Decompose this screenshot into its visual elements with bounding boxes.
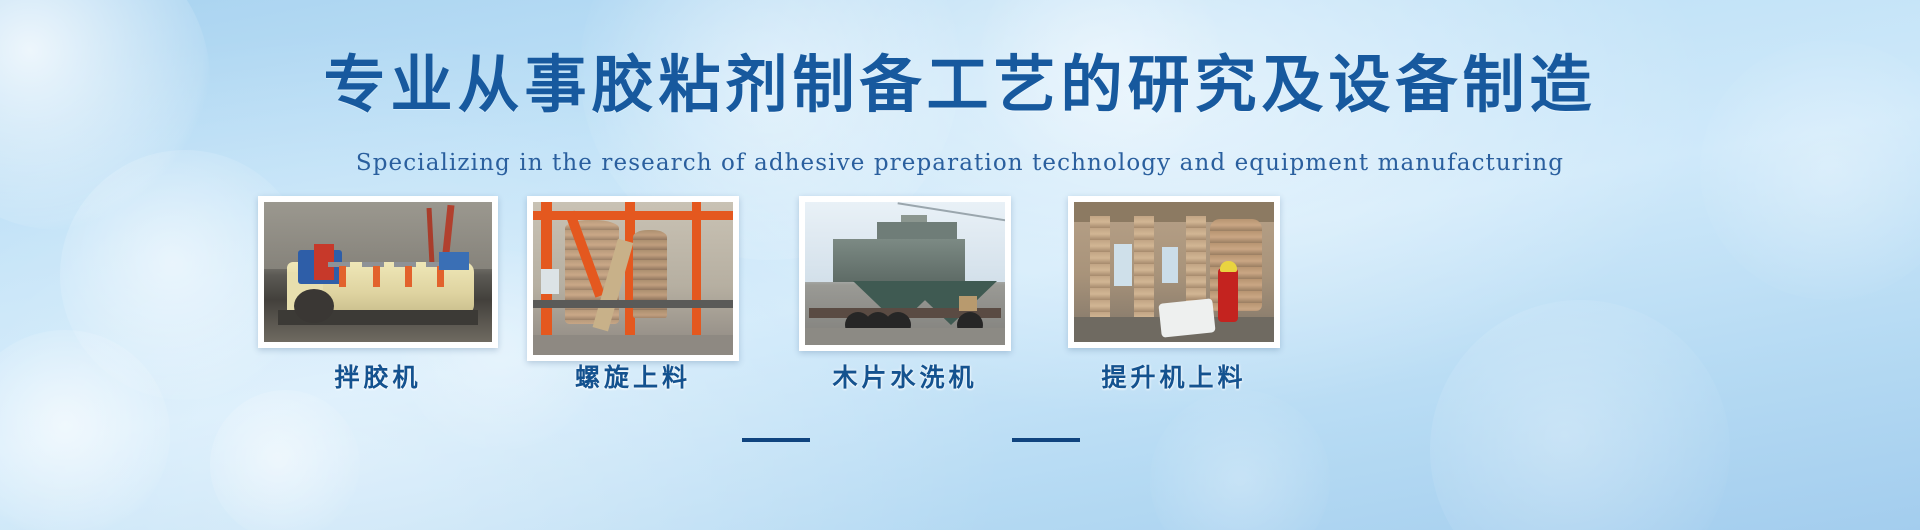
equipment-gallery: 拌胶机 螺旋上料 <box>0 196 1920 396</box>
gallery-item-screw-conveyor[interactable]: 螺旋上料 <box>527 196 739 361</box>
bokeh-circle <box>210 390 360 530</box>
bokeh-circle <box>1150 390 1330 530</box>
banner-subheadline: Specializing in the research of adhesive… <box>0 150 1920 176</box>
promo-banner: 专业从事胶粘剂制备工艺的研究及设备制造 Specializing in the … <box>0 0 1920 530</box>
gallery-item-caption: 螺旋上料 <box>527 358 739 394</box>
glue-mixer-photo[interactable] <box>258 196 498 348</box>
gallery-item-bucket-elevator[interactable]: 提升机上料 <box>1068 196 1280 348</box>
gallery-item-caption: 拌胶机 <box>258 358 498 394</box>
gallery-item-caption: 木片水洗机 <box>799 358 1011 394</box>
gallery-item-wood-chip-washer[interactable]: 木片水洗机 <box>799 196 1011 351</box>
gallery-item-glue-mixer[interactable]: 拌胶机 <box>258 196 498 348</box>
connector-line-1 <box>742 438 810 442</box>
connector-line-2 <box>1012 438 1080 442</box>
wood-chip-washer-photo[interactable] <box>799 196 1011 351</box>
bucket-elevator-photo[interactable] <box>1068 196 1280 348</box>
banner-headline: 专业从事胶粘剂制备工艺的研究及设备制造 <box>0 54 1920 116</box>
gallery-item-caption: 提升机上料 <box>1068 358 1280 394</box>
screw-conveyor-photo[interactable] <box>527 196 739 361</box>
